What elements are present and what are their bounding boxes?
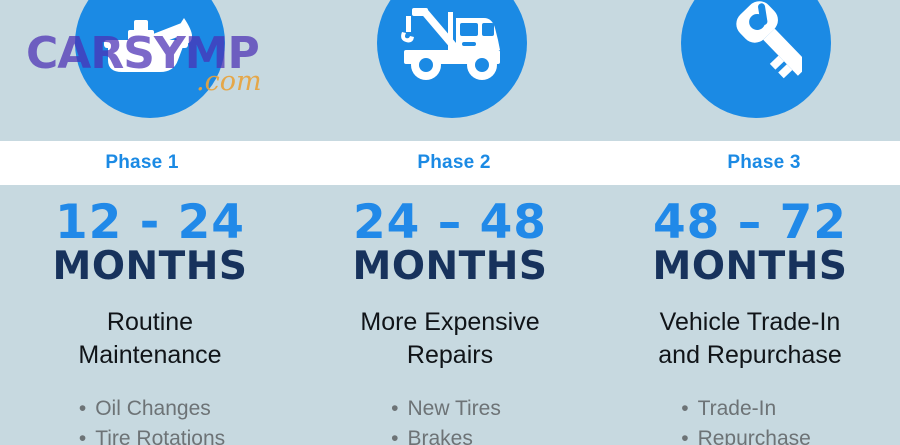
phase-3-label: Phase 3 xyxy=(727,152,800,174)
phase-2-bullet-list: New Tires Brakes xyxy=(391,394,501,445)
icon-row xyxy=(0,0,900,145)
phase-1-months-range: 12 - 24 xyxy=(0,199,300,246)
phase-2-label: Phase 2 xyxy=(417,152,490,174)
phase-1-icon-circle xyxy=(75,0,225,118)
list-item: Repurchase xyxy=(681,424,811,445)
phase-3-icon-circle xyxy=(681,0,831,118)
list-item: New Tires xyxy=(391,394,501,424)
phase-2-heading-line2: Repairs xyxy=(300,339,600,372)
oil-can-icon xyxy=(100,0,200,86)
phase-2-column: 24 – 48 MONTHS More Expensive Repairs Ne… xyxy=(300,185,600,445)
phase-2-heading-line1: More Expensive xyxy=(300,306,600,339)
phase-2-heading: More Expensive Repairs xyxy=(300,306,600,372)
phase-1-heading-line2: Maintenance xyxy=(0,339,300,372)
phase-2-icon-circle xyxy=(377,0,527,118)
phase-banner-segment-3: Phase 3 xyxy=(608,141,900,185)
phase-3-heading-line1: Vehicle Trade-In xyxy=(600,306,900,339)
phase-banner-segment-1: Phase 1 xyxy=(0,141,300,185)
phase-3-column: 48 – 72 MONTHS Vehicle Trade-In and Repu… xyxy=(600,185,900,445)
infographic-page: CARSYMP .com Phase 1 Phase 2 Phase 3 12 … xyxy=(0,0,900,445)
tow-truck-icon xyxy=(398,2,506,84)
phase-2-months-word: MONTHS xyxy=(300,247,600,288)
car-key-icon xyxy=(710,0,802,89)
phase-3-months-word: MONTHS xyxy=(600,247,900,288)
list-item: Trade-In xyxy=(681,394,811,424)
phase-3-heading-line2: and Repurchase xyxy=(600,339,900,372)
phase-2-months-range: 24 – 48 xyxy=(300,199,600,246)
list-item: Tire Rotations xyxy=(79,424,225,445)
list-item: Brakes xyxy=(391,424,501,445)
phase-1-months-word: MONTHS xyxy=(0,247,300,288)
phase-1-heading: Routine Maintenance xyxy=(0,306,300,372)
list-item: Oil Changes xyxy=(79,394,225,424)
phase-1-column: 12 - 24 MONTHS Routine Maintenance Oil C… xyxy=(0,185,300,445)
phase-columns: 12 - 24 MONTHS Routine Maintenance Oil C… xyxy=(0,185,900,445)
phase-3-heading: Vehicle Trade-In and Repurchase xyxy=(600,306,900,372)
phase-banner: Phase 1 Phase 2 Phase 3 xyxy=(0,141,900,185)
phase-3-months-range: 48 – 72 xyxy=(600,199,900,246)
phase-1-bullet-list: Oil Changes Tire Rotations xyxy=(79,394,225,445)
phase-1-label: Phase 1 xyxy=(105,152,178,174)
phase-1-heading-line1: Routine xyxy=(0,306,300,339)
phase-3-bullet-list: Trade-In Repurchase xyxy=(681,394,811,445)
phase-banner-segment-2: Phase 2 xyxy=(304,141,604,185)
